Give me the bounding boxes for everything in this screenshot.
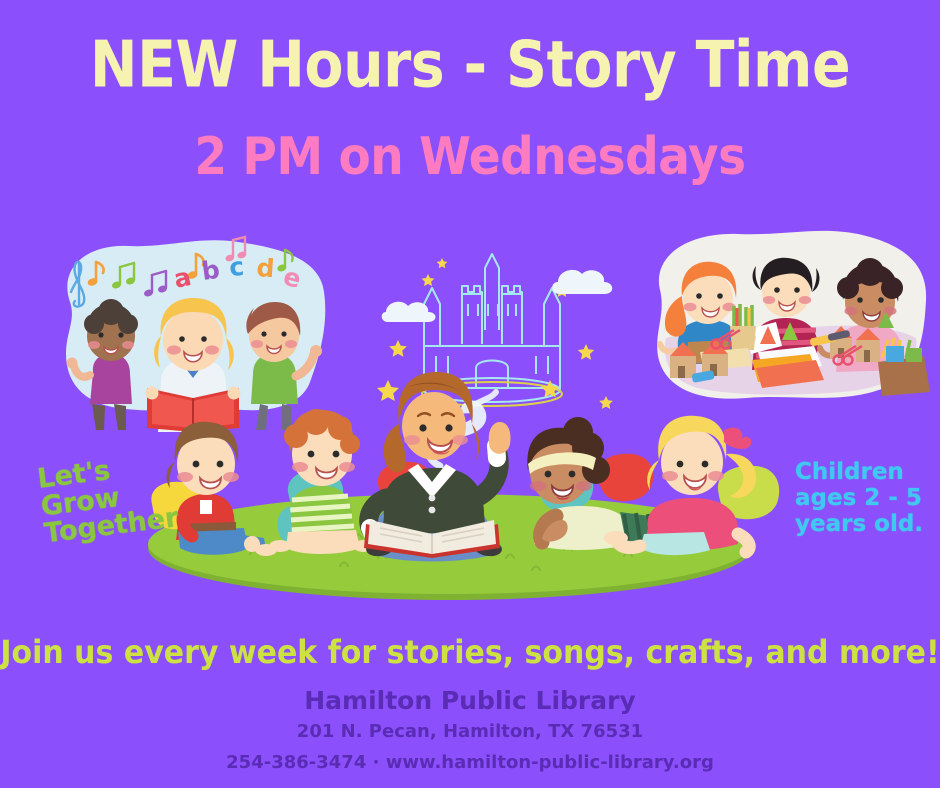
poster-subheadline: 2 PM on Wednesdays xyxy=(0,131,940,183)
library-contact: 254-386-3474 · www.hamilton-public-libra… xyxy=(0,752,940,773)
story-circle-illustration xyxy=(140,248,800,600)
poster-tagline: Join us every week for stories, songs, c… xyxy=(0,634,940,672)
caption-age-range: Children ages 2 - 5 years old. xyxy=(795,460,940,537)
story-time-poster: NEW Hours - Story Time 2 PM on Wednesday… xyxy=(0,0,940,788)
library-name: Hamilton Public Library xyxy=(0,686,940,715)
poster-headline: NEW Hours - Story Time xyxy=(0,34,940,98)
caption-lets-grow-together: Let's Grow Together xyxy=(36,447,205,548)
library-address: 201 N. Pecan, Hamilton, TX 76531 xyxy=(0,721,940,742)
